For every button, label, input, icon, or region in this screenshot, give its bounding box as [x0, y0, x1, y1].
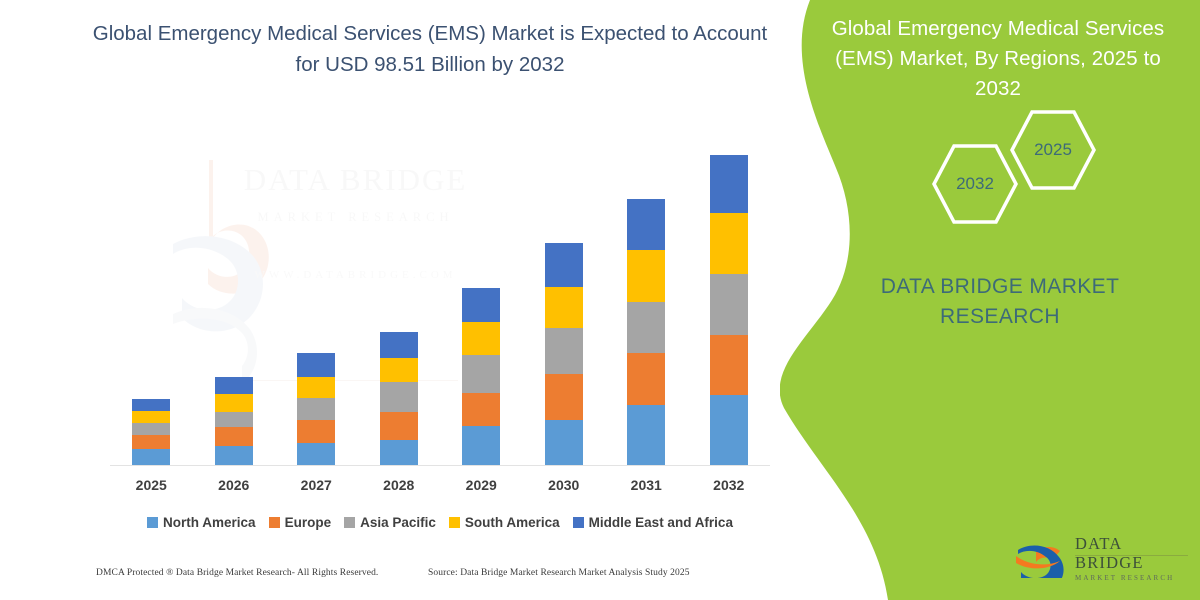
- bar-segment[interactable]: [380, 440, 418, 465]
- bar-segment[interactable]: [462, 426, 500, 465]
- x-axis-label-2029: 2029: [446, 477, 516, 493]
- hexagon-2032: 2032: [930, 142, 1020, 226]
- legend-swatch-icon: [344, 517, 355, 528]
- x-axis-label-2032: 2032: [694, 477, 764, 493]
- bar-segment[interactable]: [710, 155, 748, 213]
- legend-swatch-icon: [147, 517, 158, 528]
- footer: DMCA Protected ® Data Bridge Market Rese…: [0, 568, 790, 588]
- footer-copyright: DMCA Protected ® Data Bridge Market Rese…: [96, 568, 378, 578]
- bar-segment[interactable]: [545, 243, 583, 287]
- hexagon-2025: 2025: [1008, 108, 1098, 192]
- page-title: Global Emergency Medical Services (EMS) …: [90, 18, 770, 80]
- right-panel: Global Emergency Medical Services (EMS) …: [780, 0, 1200, 600]
- legend-item-europe[interactable]: Europe: [269, 515, 332, 530]
- bar-segment[interactable]: [545, 374, 583, 420]
- bar-segment[interactable]: [462, 355, 500, 393]
- bar-segment[interactable]: [710, 335, 748, 395]
- bar-2028[interactable]: [380, 332, 418, 465]
- x-axis-labels: 20252026202720282029203020312032: [110, 477, 770, 497]
- bar-segment[interactable]: [545, 328, 583, 374]
- x-axis-label-2030: 2030: [529, 477, 599, 493]
- bar-2030[interactable]: [545, 243, 583, 465]
- bar-segment[interactable]: [380, 382, 418, 412]
- bar-segment[interactable]: [545, 420, 583, 465]
- bar-segment[interactable]: [627, 250, 665, 302]
- bar-2025[interactable]: [132, 399, 170, 465]
- bar-segment[interactable]: [215, 377, 253, 394]
- bar-segment[interactable]: [380, 358, 418, 382]
- legend-label: South America: [465, 515, 560, 530]
- bar-segment[interactable]: [627, 405, 665, 465]
- x-axis-line: [110, 465, 770, 466]
- databridge-logo-icon: [1013, 530, 1071, 578]
- legend-swatch-icon: [449, 517, 460, 528]
- bar-segment[interactable]: [297, 398, 335, 420]
- bar-segment[interactable]: [132, 435, 170, 449]
- x-axis-label-2028: 2028: [364, 477, 434, 493]
- hexagon-2032-label: 2032: [930, 174, 1020, 194]
- bar-segment[interactable]: [215, 412, 253, 427]
- bar-segment[interactable]: [297, 377, 335, 398]
- panel-brand-text: DATA BRIDGE MARKET RESEARCH: [850, 272, 1150, 332]
- bar-2027[interactable]: [297, 353, 335, 465]
- bar-2032[interactable]: [710, 155, 748, 465]
- bar-group: [110, 140, 770, 465]
- legend-label: North America: [163, 515, 256, 530]
- legend-item-asia-pacific[interactable]: Asia Pacific: [344, 515, 436, 530]
- bar-segment[interactable]: [215, 427, 253, 446]
- infographic-canvas: Global Emergency Medical Services (EMS) …: [0, 0, 1200, 600]
- bar-segment[interactable]: [627, 353, 665, 405]
- bar-segment[interactable]: [627, 199, 665, 250]
- bar-segment[interactable]: [710, 213, 748, 274]
- hexagon-2025-label: 2025: [1008, 140, 1098, 160]
- bar-segment[interactable]: [132, 423, 170, 435]
- bar-segment[interactable]: [132, 411, 170, 423]
- legend-label: Asia Pacific: [360, 515, 436, 530]
- bar-segment[interactable]: [462, 288, 500, 322]
- bar-segment[interactable]: [132, 449, 170, 465]
- x-axis-label-2027: 2027: [281, 477, 351, 493]
- bar-segment[interactable]: [297, 353, 335, 377]
- legend-item-middle-east-and-africa[interactable]: Middle East and Africa: [573, 515, 733, 530]
- panel-title: Global Emergency Medical Services (EMS) …: [828, 14, 1168, 104]
- bar-segment[interactable]: [297, 420, 335, 443]
- bar-segment[interactable]: [710, 274, 748, 335]
- chart-legend: North AmericaEuropeAsia PacificSouth Ame…: [110, 512, 770, 532]
- legend-swatch-icon: [269, 517, 280, 528]
- logo-line1: DATA BRIDGE: [1075, 534, 1190, 572]
- bar-chart-plot: [110, 140, 770, 470]
- bar-segment[interactable]: [462, 393, 500, 426]
- bar-segment[interactable]: [462, 322, 500, 355]
- legend-label: Europe: [285, 515, 332, 530]
- bar-2031[interactable]: [627, 199, 665, 465]
- bar-segment[interactable]: [215, 446, 253, 465]
- bar-segment[interactable]: [545, 287, 583, 328]
- x-axis-label-2031: 2031: [611, 477, 681, 493]
- bar-segment[interactable]: [380, 332, 418, 358]
- x-axis-label-2026: 2026: [199, 477, 269, 493]
- bar-segment[interactable]: [710, 395, 748, 465]
- footer-source: Source: Data Bridge Market Research Mark…: [428, 568, 690, 578]
- legend-item-south-america[interactable]: South America: [449, 515, 560, 530]
- bar-2029[interactable]: [462, 288, 500, 465]
- bar-segment[interactable]: [297, 443, 335, 465]
- logo-rule: [1075, 555, 1188, 556]
- bar-2026[interactable]: [215, 377, 253, 465]
- legend-label: Middle East and Africa: [589, 515, 733, 530]
- hexagon-group: 2032 2025: [900, 120, 1120, 230]
- logo-line2: MARKET RESEARCH: [1075, 573, 1190, 584]
- x-axis-label-2025: 2025: [116, 477, 186, 493]
- bar-segment[interactable]: [380, 412, 418, 440]
- bar-segment[interactable]: [215, 394, 253, 412]
- legend-swatch-icon: [573, 517, 584, 528]
- bar-segment[interactable]: [627, 302, 665, 353]
- bar-segment[interactable]: [132, 399, 170, 411]
- company-logo: DATA BRIDGE MARKET RESEARCH: [1013, 530, 1188, 578]
- legend-item-north-america[interactable]: North America: [147, 515, 256, 530]
- logo-wordmark: DATA BRIDGE MARKET RESEARCH: [1075, 534, 1190, 584]
